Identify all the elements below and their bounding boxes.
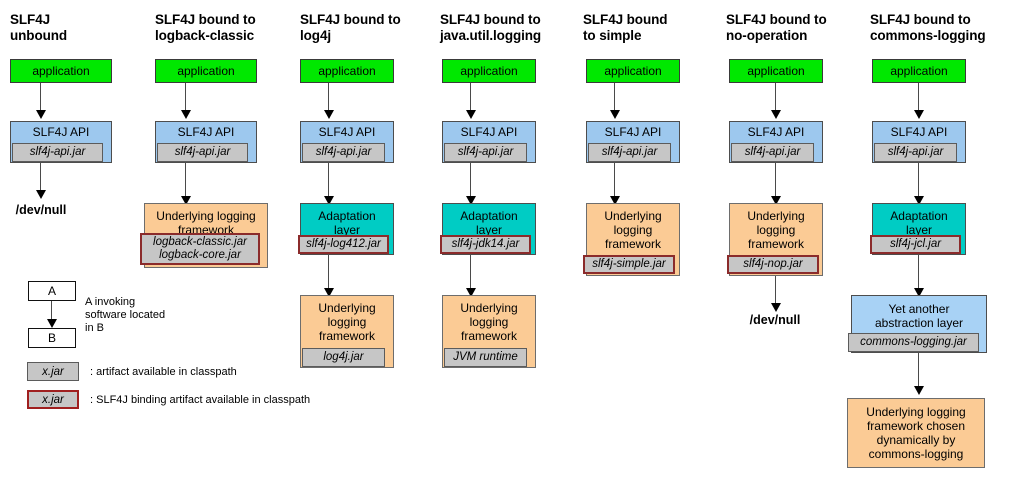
node-label: application xyxy=(175,64,236,78)
arrow-head xyxy=(914,110,924,119)
jar-chip-slf4j-api: slf4j-api.jar xyxy=(444,143,527,162)
node-application-unbound: application xyxy=(10,59,112,83)
arrow-line xyxy=(775,163,776,200)
jar-chip-slf4j-simple: slf4j-simple.jar xyxy=(583,255,675,274)
node-label: SLF4J API xyxy=(459,125,520,139)
node-application-logback: application xyxy=(155,59,257,83)
node-application-nop: application xyxy=(729,59,823,83)
node-label: Underlying logging framework xyxy=(316,301,377,343)
column-title-logback-classic: SLF4J bound to logback-classic xyxy=(155,12,300,44)
jar-chip-commons-logging: commons-logging.jar xyxy=(848,333,979,352)
node-label: Adaptation layer xyxy=(316,209,377,237)
node-label: application xyxy=(888,64,949,78)
arrow-head xyxy=(324,110,334,119)
node-label: SLF4J API xyxy=(889,125,950,139)
jar-chip-slf4j-jdk14: slf4j-jdk14.jar xyxy=(440,235,531,254)
arrow-head xyxy=(610,110,620,119)
jar-chip-logback: logback-classic.jar logback-core.jar xyxy=(140,233,260,265)
jar-chip-slf4j-nop: slf4j-nop.jar xyxy=(727,255,819,274)
terminal-devnull-unbound: /dev/null xyxy=(0,203,82,217)
column-title-log4j: SLF4J bound to log4j xyxy=(300,12,445,44)
arrow-head xyxy=(771,303,781,312)
arrow-line xyxy=(328,83,329,112)
node-label: SLF4J API xyxy=(176,125,237,139)
node-label: application xyxy=(602,64,663,78)
legend-chip-binding-artifact: x.jar xyxy=(27,390,79,409)
node-label: SLF4J API xyxy=(746,125,807,139)
arrow-line xyxy=(470,163,471,200)
jar-chip-log4j: log4j.jar xyxy=(302,348,385,367)
node-dynamic-framework-jcl: Underlying logging framework chosen dyna… xyxy=(847,398,985,468)
legend-box-b: B xyxy=(28,328,76,348)
node-label: application xyxy=(30,64,91,78)
jar-chip-slf4j-api: slf4j-api.jar xyxy=(157,143,248,162)
node-application-jul: application xyxy=(442,59,536,83)
node-label: application xyxy=(316,64,377,78)
jar-chip-slf4j-jcl: slf4j-jcl.jar xyxy=(870,235,961,254)
jar-chip-slf4j-api: slf4j-api.jar xyxy=(302,143,385,162)
node-application-log4j: application xyxy=(300,59,394,83)
arrow-line xyxy=(918,163,919,200)
node-label: Underlying logging framework xyxy=(602,209,663,251)
node-application-simple: application xyxy=(586,59,680,83)
column-title-simple: SLF4J bound to simple xyxy=(583,12,723,44)
node-application-jcl: application xyxy=(872,59,966,83)
arrow-head xyxy=(36,190,46,199)
arrow-line xyxy=(775,276,776,305)
jar-chip-jvm-runtime: JVM runtime xyxy=(444,348,527,367)
arrow-head xyxy=(914,386,924,395)
arrow-line xyxy=(614,83,615,112)
terminal-devnull-nop: /dev/null xyxy=(733,313,817,327)
arrow-line xyxy=(470,255,471,292)
arrow-head xyxy=(36,110,46,119)
arrow-line xyxy=(40,163,41,192)
node-label: Yet another abstraction layer xyxy=(873,302,965,330)
node-label: Adaptation layer xyxy=(458,209,519,237)
arrow-line xyxy=(185,83,186,112)
arrow-line xyxy=(185,163,186,200)
column-title-nop: SLF4J bound to no-operation xyxy=(726,12,871,44)
node-label: Adaptation layer xyxy=(888,209,949,237)
arrow-line xyxy=(918,353,919,390)
slf4j-bindings-diagram: SLF4J unbound application SLF4J API slf4… xyxy=(0,0,1024,479)
jar-chip-slf4j-api: slf4j-api.jar xyxy=(588,143,671,162)
legend-arrow-caption: A invoking software located in B xyxy=(85,296,225,335)
column-title-commons-logging: SLF4J bound to commons-logging xyxy=(870,12,1020,44)
arrow-head xyxy=(771,110,781,119)
node-label: SLF4J API xyxy=(603,125,664,139)
column-title-jul: SLF4J bound to java.util.logging xyxy=(440,12,590,44)
arrow-head xyxy=(466,110,476,119)
node-label: application xyxy=(458,64,519,78)
arrow-head xyxy=(181,110,191,119)
node-label: application xyxy=(745,64,806,78)
node-label: Underlying logging framework xyxy=(745,209,806,251)
arrow-line xyxy=(775,83,776,112)
arrow-line xyxy=(614,163,615,200)
legend-chip-artifact: x.jar xyxy=(27,362,79,381)
node-label: Underlying logging framework xyxy=(458,301,519,343)
jar-chip-slf4j-api: slf4j-api.jar xyxy=(12,143,103,162)
arrow-line xyxy=(918,83,919,112)
arrow-line xyxy=(470,83,471,112)
legend-box-a: A xyxy=(28,281,76,301)
arrow-line xyxy=(918,255,919,292)
jar-chip-slf4j-log4j12: slf4j-log412.jar xyxy=(298,235,389,254)
jar-chip-slf4j-api: slf4j-api.jar xyxy=(731,143,814,162)
legend-caption-binding-artifact: : SLF4J binding artifact available in cl… xyxy=(90,394,410,407)
arrow-line xyxy=(40,83,41,112)
node-label: SLF4J API xyxy=(317,125,378,139)
arrow-line xyxy=(328,255,329,292)
node-label: Underlying logging framework chosen dyna… xyxy=(864,405,967,461)
legend-caption-artifact: : artifact available in classpath xyxy=(90,366,350,379)
legend-arrow-head xyxy=(47,319,57,328)
column-title-unbound: SLF4J unbound xyxy=(10,12,150,44)
arrow-line xyxy=(328,163,329,200)
jar-chip-slf4j-api: slf4j-api.jar xyxy=(874,143,957,162)
node-label: SLF4J API xyxy=(31,125,92,139)
